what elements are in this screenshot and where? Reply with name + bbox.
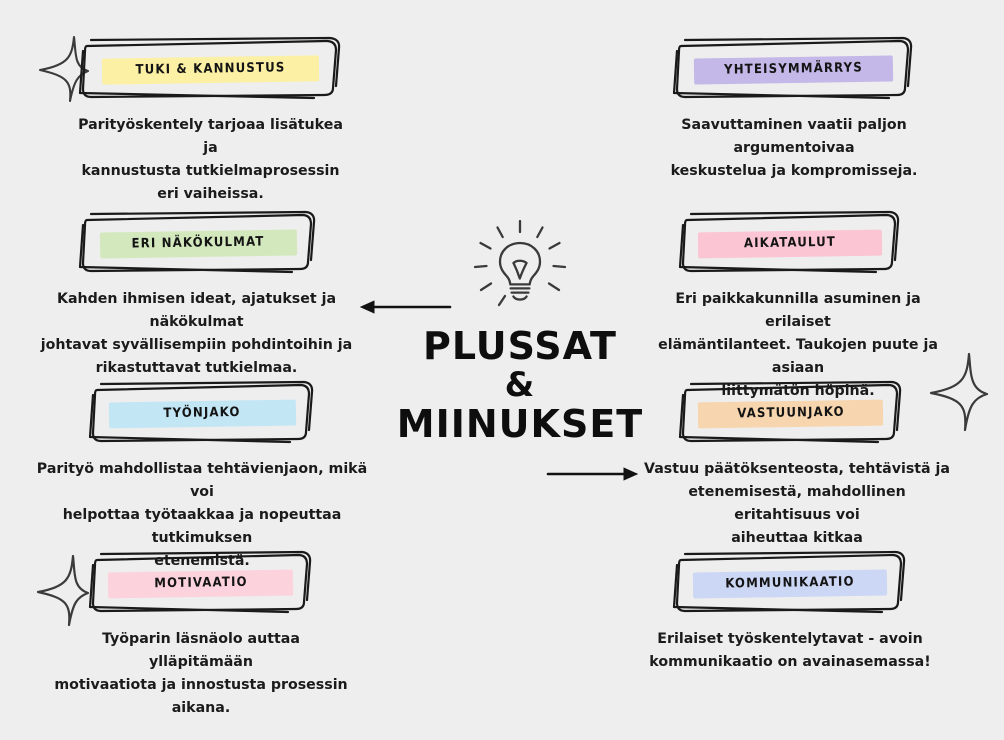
desc-line: Saavuttaminen vaatii paljon argumentoiva…: [634, 114, 954, 160]
desc-line: elämäntilanteet. Taukojen puute ja asiaa…: [648, 334, 948, 380]
center-title-ampersand: &: [390, 367, 650, 404]
card-tyonjako[interactable]: TYÖNJAKO Parityö mahdollistaa tehtävienj…: [88, 382, 316, 573]
card-vastuunjako[interactable]: VASTUUNJAKO Vastuu päätöksenteosta, teht…: [678, 382, 904, 550]
center-title-line1: PLUSSAT: [390, 326, 650, 367]
center-hub: PLUSSAT & MIINUKSET: [390, 212, 650, 445]
card-frame: YHTEISYMMÄRRYS: [672, 38, 915, 100]
arrow-left: [360, 298, 452, 320]
desc-line: Kahden ihmisen ideat, ajatukset ja näkök…: [24, 288, 369, 334]
card-motivaatio[interactable]: MOTIVAATIO Työparin läsnäolo auttaa yllä…: [88, 552, 314, 720]
desc-line: Parityö mahdollistaa tehtävienjaon, mikä…: [34, 458, 370, 504]
desc-line: kommunikaatio on avainasemassa!: [645, 651, 935, 674]
infographic-canvas: PLUSSAT & MIINUKSET: [0, 0, 1004, 740]
arrow-right: [546, 465, 638, 487]
card-kommunikaatio[interactable]: KOMMUNIKAATIO Erilaiset työskentelytavat…: [672, 552, 908, 674]
card-frame: VASTUUNJAKO: [678, 382, 904, 444]
desc-line: helpottaa työtaakkaa ja nopeuttaa tutkim…: [34, 504, 370, 550]
card-aikataulut[interactable]: AIKATAULUT Eri paikkakunnilla asuminen j…: [678, 212, 902, 403]
desc-line: keskustelua ja kompromisseja.: [634, 160, 954, 183]
card-description: Erilaiset työskentelytavat - avoin kommu…: [645, 628, 935, 674]
desc-line: kannustusta tutkielmaprosessin eri vaihe…: [78, 160, 343, 206]
card-yhteisymmarrys[interactable]: YHTEISYMMÄRRYS Saavuttaminen vaatii palj…: [672, 38, 915, 183]
card-description: Kahden ihmisen ideat, ajatukset ja näkök…: [24, 288, 369, 380]
desc-line: motivaatiota ja innostusta prosessin aik…: [51, 674, 351, 720]
desc-line: johtavat syvällisempiin pohdintoihin ja: [24, 334, 369, 357]
card-frame: TYÖNJAKO: [88, 382, 316, 444]
desc-line: Erilaiset työskentelytavat - avoin: [645, 628, 935, 651]
card-tuki-ja-kannustus[interactable]: TUKI & KANNUSTUS Parityöskentely tarjoaa…: [78, 38, 343, 206]
card-frame: KOMMUNIKAATIO: [672, 552, 908, 614]
lightbulb-idea-icon: [466, 212, 574, 320]
card-frame: ERI NÄKÖKULMAT: [78, 212, 318, 274]
card-frame: MOTIVAATIO: [88, 552, 314, 614]
card-description: Saavuttaminen vaatii paljon argumentoiva…: [634, 114, 954, 183]
desc-line: Vastuu päätöksenteosta, tehtävistä ja: [642, 458, 952, 481]
card-description: Vastuu päätöksenteosta, tehtävistä ja et…: [642, 458, 952, 550]
card-description: Työparin läsnäolo auttaa ylläpitämään mo…: [51, 628, 351, 720]
desc-line: Työparin läsnäolo auttaa ylläpitämään: [51, 628, 351, 674]
desc-line: aiheuttaa kitkaa: [642, 527, 952, 550]
card-eri-nakokulmat[interactable]: ERI NÄKÖKULMAT Kahden ihmisen ideat, aja…: [78, 212, 318, 380]
center-title: PLUSSAT & MIINUKSET: [390, 326, 650, 445]
card-description: Parityöskentely tarjoaa lisätukea ja kan…: [78, 114, 343, 206]
card-frame: AIKATAULUT: [678, 212, 902, 274]
desc-line: etenemisestä, mahdollinen eritahtisuus v…: [642, 481, 952, 527]
desc-line: rikastuttavat tutkielmaa.: [24, 357, 369, 380]
desc-line: Parityöskentely tarjoaa lisätukea ja: [78, 114, 343, 160]
card-frame: TUKI & KANNUSTUS: [78, 38, 343, 100]
center-title-line2: MIINUKSET: [390, 404, 650, 445]
desc-line: Eri paikkakunnilla asuminen ja erilaiset: [648, 288, 948, 334]
